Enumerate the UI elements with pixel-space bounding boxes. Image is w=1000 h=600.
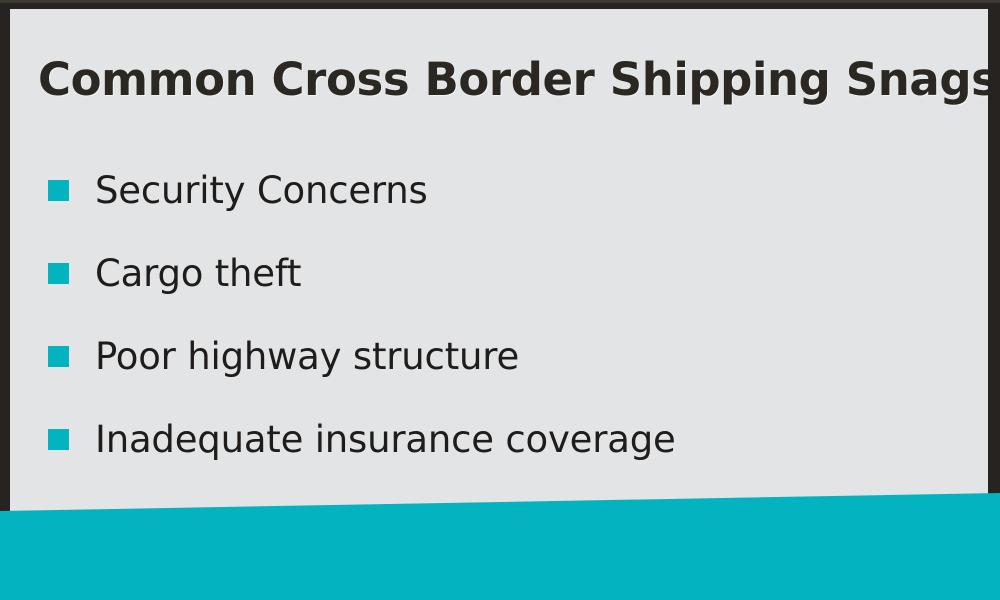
square-bullet-icon (48, 263, 69, 284)
list-item: Poor highway structure (38, 315, 968, 398)
slide-content-panel: Common Cross Border Shipping Snags Secur… (10, 9, 988, 514)
list-item-label: Poor highway structure (95, 335, 968, 379)
list-item: Security Concerns (38, 149, 968, 232)
list-item-label: Security Concerns (95, 169, 968, 213)
square-bullet-icon (48, 180, 69, 201)
square-bullet-icon (48, 429, 69, 450)
list-item: Inadequate insurance coverage (38, 398, 968, 481)
list-item: Cargo theft (38, 232, 968, 315)
slide-canvas: Common Cross Border Shipping Snags Secur… (0, 0, 1000, 600)
page-title: Common Cross Border Shipping Snags (38, 51, 968, 109)
bullet-list: Security Concerns Cargo theft Poor highw… (38, 149, 968, 481)
square-bullet-icon (48, 346, 69, 367)
list-item-label: Cargo theft (95, 252, 968, 296)
list-item-label: Inadequate insurance coverage (95, 418, 968, 462)
frame-top-highlight (0, 0, 1000, 3)
